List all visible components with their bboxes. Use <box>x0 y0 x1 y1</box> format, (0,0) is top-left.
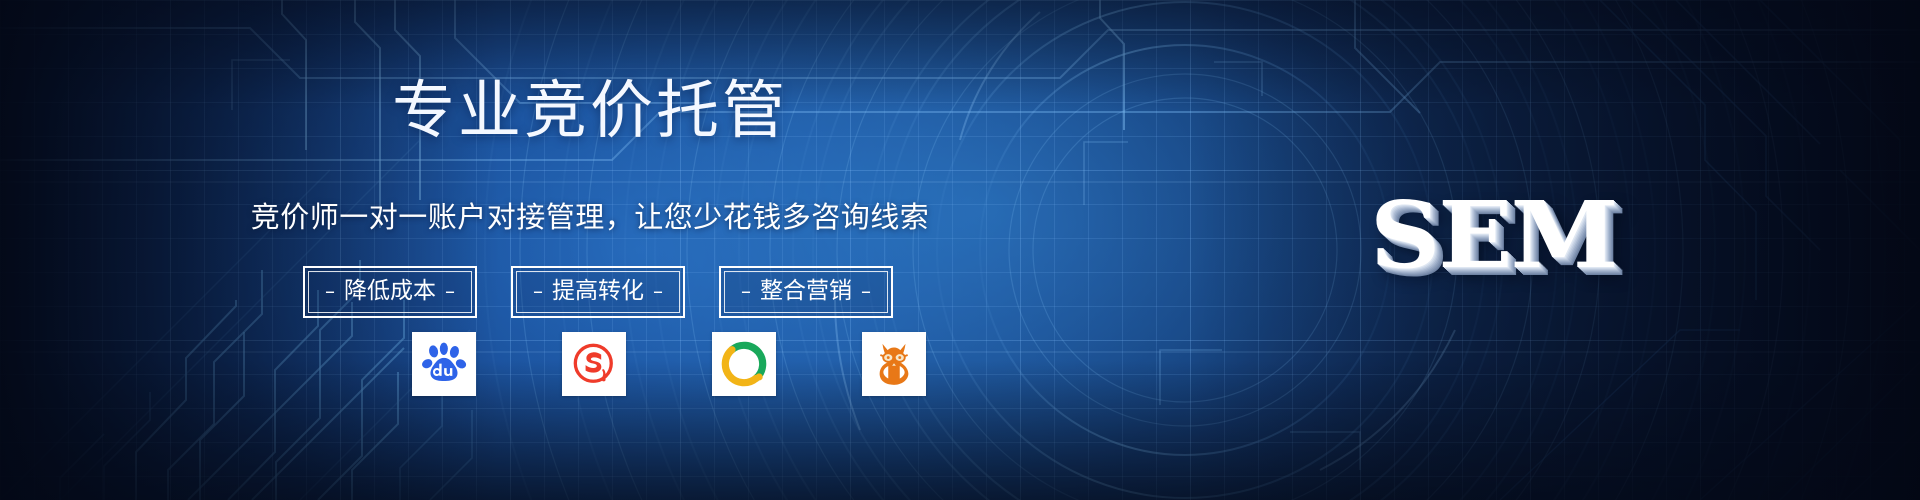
platform-logo-tile-360[interactable] <box>712 332 776 396</box>
feature-badge-label: 降低成本 <box>344 276 436 306</box>
platform-logo-tile-baidu[interactable] <box>412 332 476 396</box>
platform-logo-list <box>412 332 926 396</box>
feature-badge-label: 提高转化 <box>552 276 644 306</box>
page-subtitle: 竞价师一对一账户对接管理，让您少花钱多咨询线索 <box>0 198 1920 236</box>
shenma-logo-icon <box>871 341 917 387</box>
qihoo360-logo-icon <box>721 341 767 387</box>
baidu-logo-icon <box>421 341 467 387</box>
feature-badge-conversion[interactable]: – 提高转化 – <box>511 266 685 318</box>
platform-logo-tile-shenma[interactable] <box>862 332 926 396</box>
sem-hosting-banner: 专业竞价托管 竞价师一对一账户对接管理，让您少花钱多咨询线索 – 降低成本 – … <box>0 0 1920 500</box>
feature-badge-marketing[interactable]: – 整合营销 – <box>719 266 893 318</box>
page-title: 专业竞价托管 <box>0 76 1920 146</box>
sogou-logo-icon <box>571 341 617 387</box>
sem-wordmark: SEM <box>1370 185 1616 285</box>
dash-right-icon: – <box>445 281 455 301</box>
platform-logo-tile-sogou[interactable] <box>562 332 626 396</box>
feature-badge-cost[interactable]: – 降低成本 – <box>303 266 477 318</box>
dash-right-icon: – <box>861 281 871 301</box>
dash-right-icon: – <box>653 281 663 301</box>
dash-left-icon: – <box>533 281 543 301</box>
feature-badge-list: – 降低成本 – – 提高转化 – – 整合营销 – <box>303 266 893 318</box>
feature-badge-label: 整合营销 <box>760 276 852 306</box>
dash-left-icon: – <box>741 281 751 301</box>
dash-left-icon: – <box>325 281 335 301</box>
